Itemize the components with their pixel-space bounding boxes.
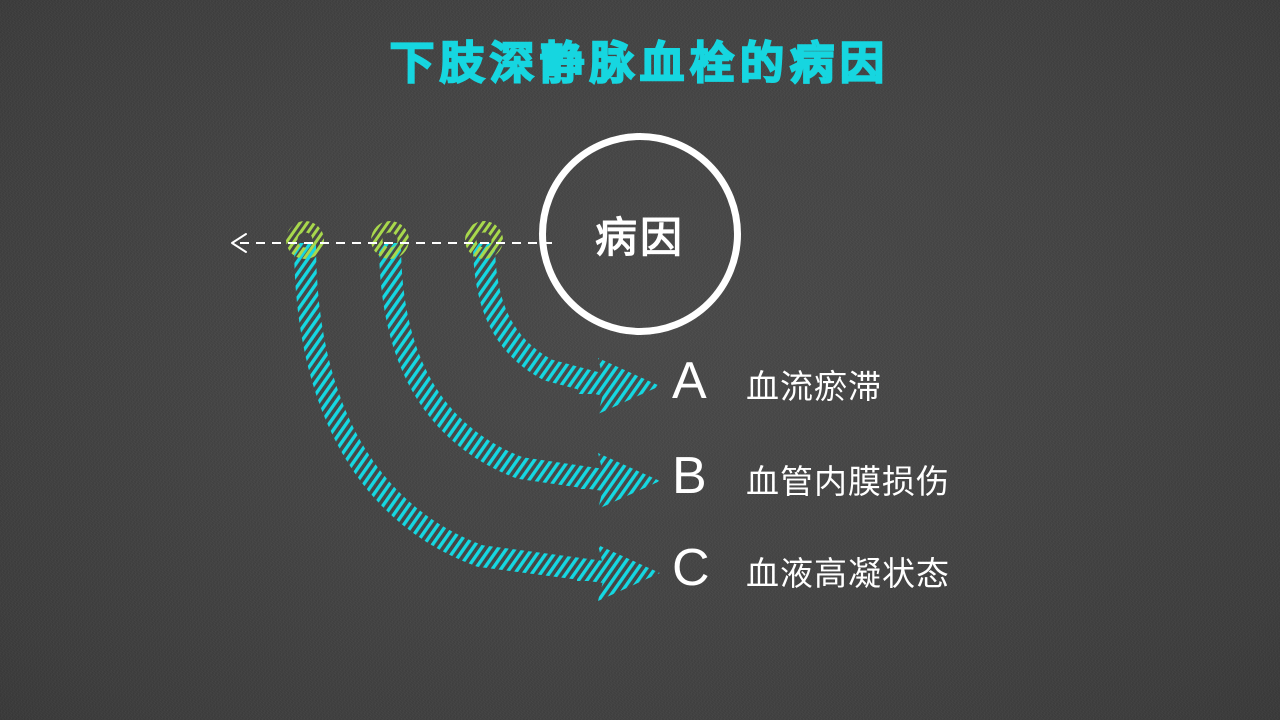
item-letter-b: B	[672, 450, 746, 502]
node-rings-green	[0, 0, 1280, 720]
list-item-a: A 血流瘀滞	[672, 355, 882, 407]
list-item-b: B 血管内膜损伤	[672, 450, 950, 502]
list-item-c: C 血液高凝状态	[672, 542, 950, 594]
diagram-artwork	[0, 0, 1280, 720]
item-label-c: 血液高凝状态	[746, 557, 950, 590]
slide-canvas: 下肢深静脉血栓的病因	[0, 0, 1280, 720]
page-title: 下肢深静脉血栓的病因	[0, 40, 1280, 88]
item-letter-c: C	[672, 542, 746, 594]
item-label-a: 血流瘀滞	[746, 370, 882, 403]
item-letter-a: A	[672, 355, 746, 407]
hub-label: 病因	[539, 133, 741, 335]
item-label-b: 血管内膜损伤	[746, 465, 950, 498]
